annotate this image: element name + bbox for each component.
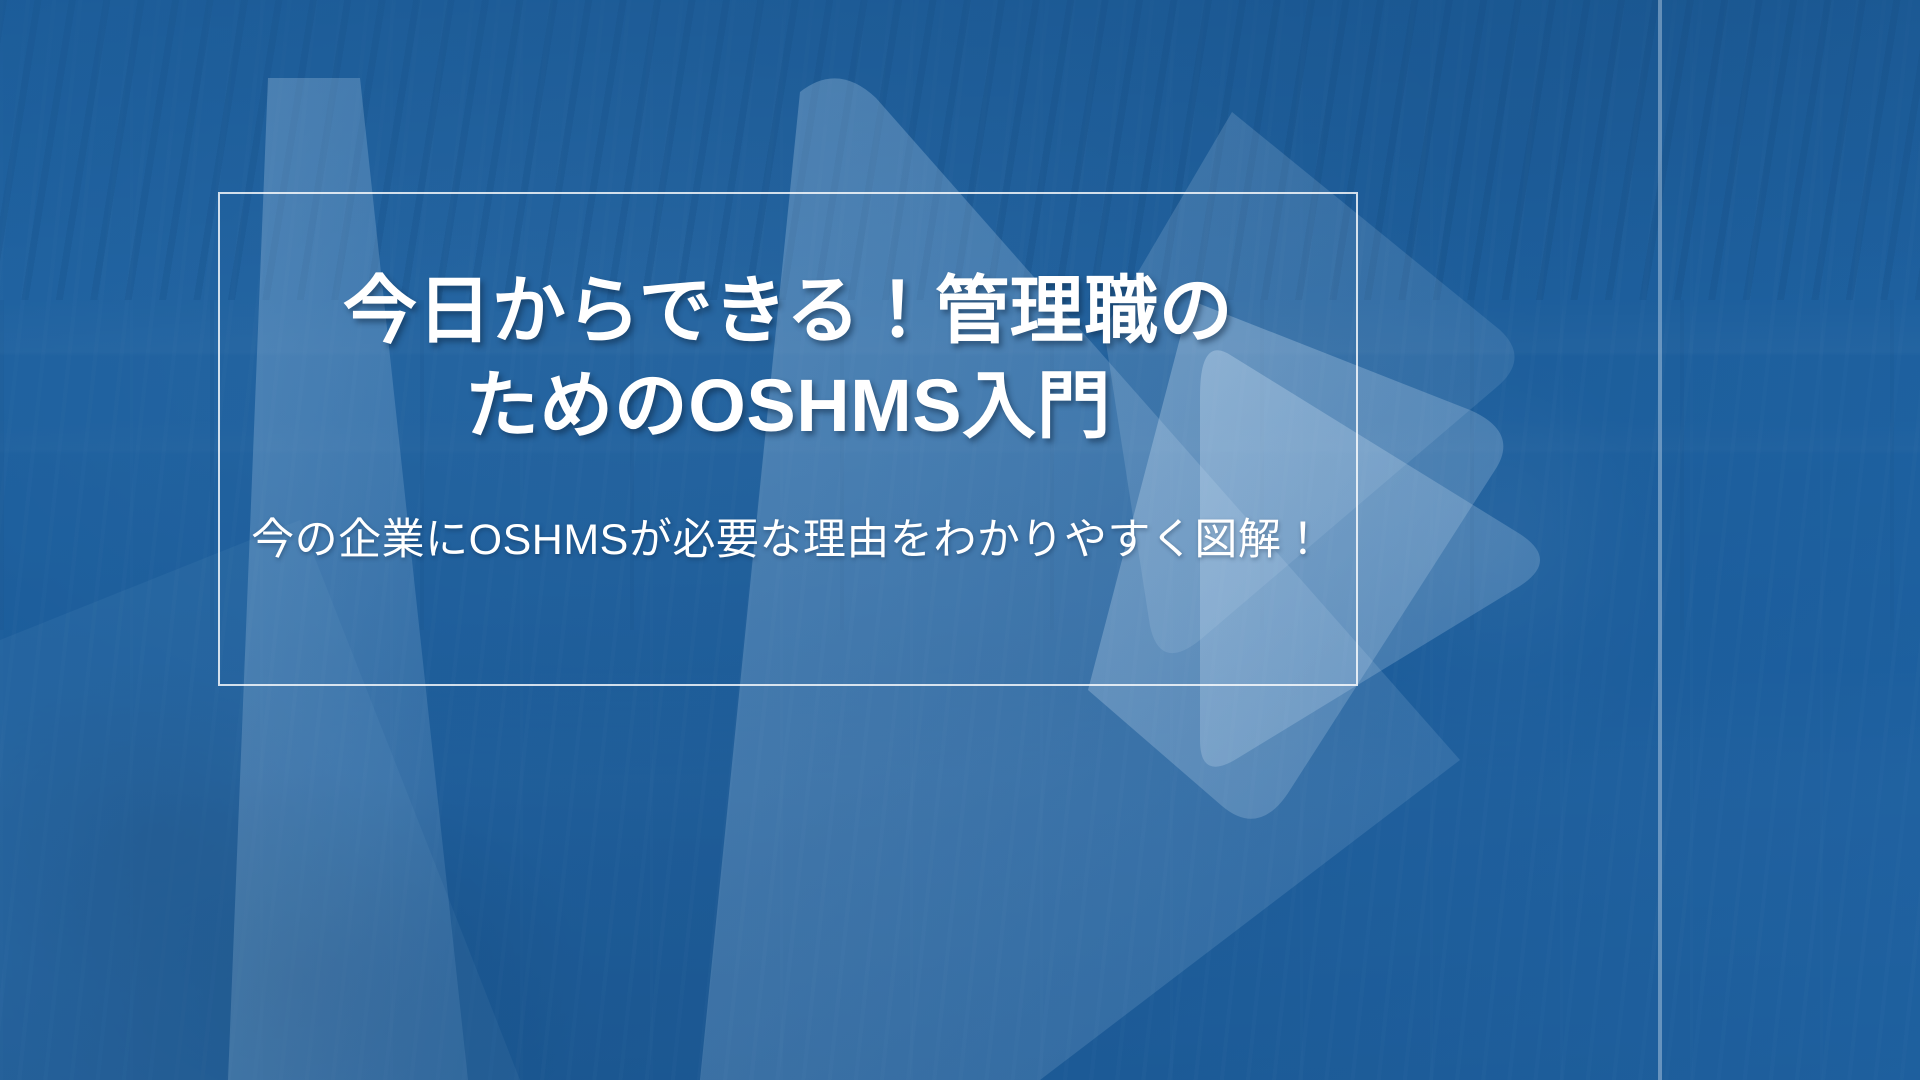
title-text-block: 今日からできる！管理職の ためのOSHMS入門 今の企業にOSHMSが必要な理由…: [218, 192, 1358, 686]
title-line-1: 今日からできる！管理職の: [343, 264, 1233, 359]
subtitle-text: 今の企業にOSHMSが必要な理由をわかりやすく図解！: [251, 513, 1325, 569]
title-line-2: ためのOSHMS入門: [465, 359, 1111, 454]
title-slide: 今日からできる！管理職の ためのOSHMS入門 今の企業にOSHMSが必要な理由…: [0, 0, 1920, 1080]
